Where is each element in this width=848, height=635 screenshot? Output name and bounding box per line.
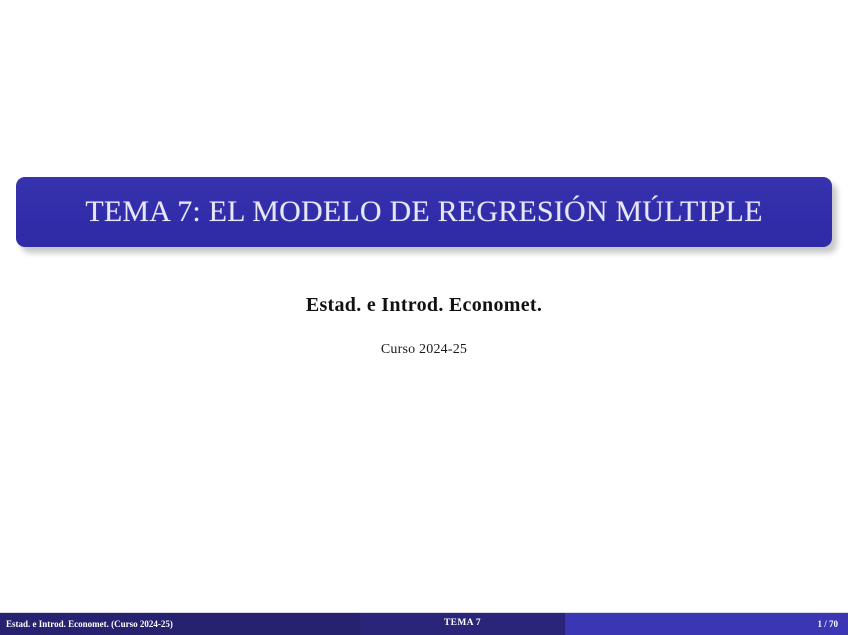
course-date-line: Curso 2024-25 (0, 342, 848, 358)
footer-title-section: TEMA 7 (360, 613, 565, 635)
presentation-slide: TEMA 7: EL MODELO DE REGRESIÓN MÚLTIPLE … (0, 0, 848, 635)
author-line: Estad. e Introd. Economet. (0, 294, 848, 317)
title-banner: TEMA 7: EL MODELO DE REGRESIÓN MÚLTIPLE (16, 177, 832, 247)
footer-page-number: 1 / 70 (565, 613, 848, 635)
slide-footer: Estad. e Introd. Economet. (Curso 2024-2… (0, 613, 848, 635)
slide-title: TEMA 7: EL MODELO DE REGRESIÓN MÚLTIPLE (85, 197, 762, 227)
footer-author-section: Estad. e Introd. Economet. (Curso 2024-2… (0, 613, 360, 635)
title-banner-box: TEMA 7: EL MODELO DE REGRESIÓN MÚLTIPLE (16, 177, 832, 247)
